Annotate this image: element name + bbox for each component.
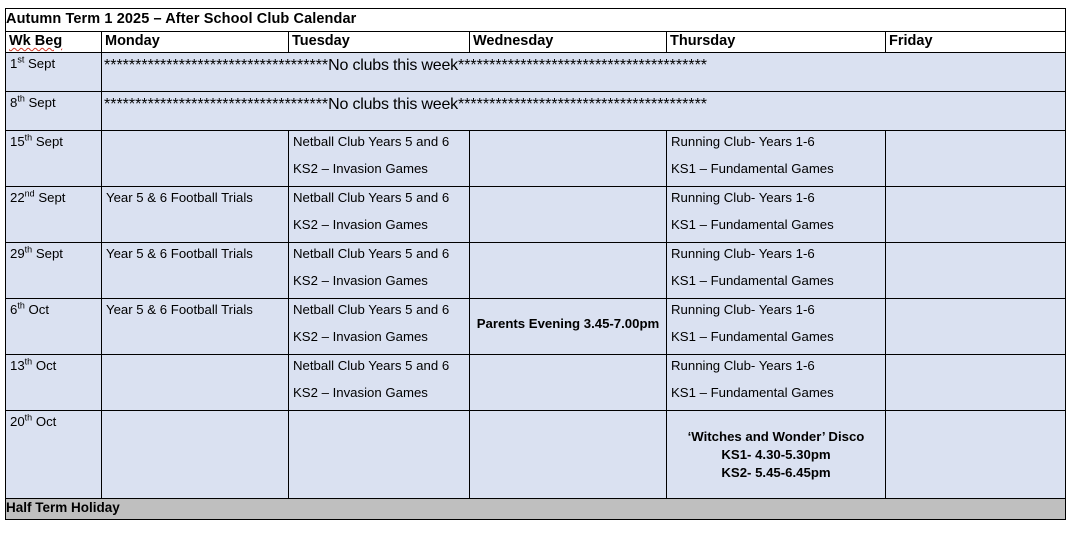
thursday-cell: ‘Witches and Wonder’ Disco KS1- 4.30-5.3… <box>667 411 886 499</box>
table-row: 15th Sept Netball Club Years 5 and 6 KS2… <box>6 131 1066 187</box>
tuesday-activity-primary: Netball Club Years 5 and 6 <box>293 190 465 206</box>
week-beginning-cell: 22nd Sept <box>6 187 102 243</box>
tuesday-activity-secondary: KS2 – Invasion Games <box>293 329 465 345</box>
wednesday-cell <box>470 131 667 187</box>
tuesday-cell: Netball Club Years 5 and 6 KS2 – Invasio… <box>289 243 470 299</box>
week-date-ordinal: th <box>17 301 24 311</box>
week-date-number: 20 <box>10 414 25 429</box>
week-date-ordinal: th <box>25 413 32 423</box>
monday-cell: Year 5 & 6 Football Trials <box>102 187 289 243</box>
week-date-month: Oct <box>36 358 57 373</box>
disco-ks1-time: KS1- 4.30-5.30pm <box>721 446 830 464</box>
week-date-ordinal: st <box>17 55 24 65</box>
wednesday-cell <box>470 355 667 411</box>
week-date-month: Sept <box>29 95 56 110</box>
friday-cell <box>886 355 1066 411</box>
banner-text: No clubs this week <box>328 57 458 74</box>
table-row: 20th Oct ‘Witches and Wonder’ Disco KS1-… <box>6 411 1066 499</box>
table-row: 22nd Sept Year 5 & 6 Football Trials Net… <box>6 187 1066 243</box>
no-clubs-banner-cell: ************************************No c… <box>102 92 1066 131</box>
week-date-ordinal: th <box>17 94 24 104</box>
thursday-activity-primary: Running Club- Years 1-6 <box>671 134 881 150</box>
half-term-holiday-row: Half Term Holiday <box>6 499 1066 520</box>
wednesday-activity <box>470 131 666 180</box>
calendar-title-row: Autumn Term 1 2025 – After School Club C… <box>6 9 1066 32</box>
thursday-activity-secondary: KS1 – Fundamental Games <box>671 385 881 401</box>
monday-cell <box>102 131 289 187</box>
week-date-ordinal: th <box>25 245 32 255</box>
table-row: 13th Oct Netball Club Years 5 and 6 KS2 … <box>6 355 1066 411</box>
week-beginning-cell: 6th Oct <box>6 299 102 355</box>
column-header-friday-label: Friday <box>886 32 1065 51</box>
friday-cell <box>886 299 1066 355</box>
week-date-number: 29 <box>10 246 25 261</box>
tuesday-activity-secondary: KS2 – Invasion Games <box>293 161 465 177</box>
column-header-friday: Friday <box>886 32 1066 53</box>
thursday-cell: Running Club- Years 1-6 KS1 – Fundamenta… <box>667 355 886 411</box>
week-date-ordinal: th <box>25 133 32 143</box>
thursday-activity-primary: Running Club- Years 1-6 <box>671 358 881 374</box>
tuesday-activity-primary: Netball Club Years 5 and 6 <box>293 302 465 318</box>
week-date-month: Sept <box>38 190 65 205</box>
thursday-cell: Running Club- Years 1-6 KS1 – Fundamenta… <box>667 299 886 355</box>
week-date-month: Sept <box>28 56 55 71</box>
half-term-holiday-label: Half Term Holiday <box>6 499 1065 517</box>
friday-cell <box>886 187 1066 243</box>
thursday-activity-primary: Running Club- Years 1-6 <box>671 302 881 318</box>
tuesday-activity-secondary: KS2 – Invasion Games <box>293 217 465 233</box>
monday-activity-primary: Year 5 & 6 Football Trials <box>106 246 284 262</box>
column-header-monday: Monday <box>102 32 289 53</box>
week-date-number: 22 <box>10 190 25 205</box>
week-beginning-cell: 8th Sept <box>6 92 102 131</box>
friday-cell <box>886 131 1066 187</box>
week-date-month: Oct <box>36 414 57 429</box>
thursday-activity-secondary: KS1 – Fundamental Games <box>671 329 881 345</box>
friday-activity <box>886 243 1065 292</box>
friday-activity <box>886 187 1065 236</box>
table-row: 29th Sept Year 5 & 6 Football Trials Net… <box>6 243 1066 299</box>
friday-activity <box>886 411 1065 498</box>
tuesday-cell: Netball Club Years 5 and 6 KS2 – Invasio… <box>289 187 470 243</box>
column-header-wk-beg-label: Wk Beg <box>9 33 62 49</box>
calendar-page: Autumn Term 1 2025 – After School Club C… <box>0 0 1079 537</box>
disco-title: ‘Witches and Wonder’ Disco <box>688 428 865 446</box>
week-beginning-cell: 13th Oct <box>6 355 102 411</box>
monday-cell <box>102 355 289 411</box>
thursday-activity-secondary: KS1 – Fundamental Games <box>671 161 881 177</box>
table-row: 6th Oct Year 5 & 6 Football Trials Netba… <box>6 299 1066 355</box>
tuesday-cell: Netball Club Years 5 and 6 KS2 – Invasio… <box>289 131 470 187</box>
friday-cell <box>886 411 1066 499</box>
monday-cell <box>102 411 289 499</box>
week-beginning-cell: 20th Oct <box>6 411 102 499</box>
tuesday-activity-primary: Netball Club Years 5 and 6 <box>293 246 465 262</box>
friday-activity <box>886 355 1065 404</box>
column-header-wednesday-label: Wednesday <box>470 32 666 51</box>
calendar-header-row: Wk Beg Monday Tuesday Wednesday Thursday… <box>6 32 1066 53</box>
week-date-month: Sept <box>36 246 63 261</box>
week-date-number: 13 <box>10 358 25 373</box>
week-date-ordinal: th <box>25 357 32 367</box>
table-row: 1st Sept *******************************… <box>6 53 1066 92</box>
wednesday-cell <box>470 411 667 499</box>
tuesday-cell: Netball Club Years 5 and 6 KS2 – Invasio… <box>289 355 470 411</box>
thursday-cell: Running Club- Years 1-6 KS1 – Fundamenta… <box>667 243 886 299</box>
thursday-activity-primary: Running Club- Years 1-6 <box>671 246 881 262</box>
friday-activity <box>886 299 1065 348</box>
monday-activity-primary: Year 5 & 6 Football Trials <box>106 302 284 318</box>
week-date-month: Oct <box>29 302 50 317</box>
column-header-wednesday: Wednesday <box>470 32 667 53</box>
thursday-cell: Running Club- Years 1-6 KS1 – Fundamenta… <box>667 187 886 243</box>
monday-cell: Year 5 & 6 Football Trials <box>102 299 289 355</box>
wednesday-cell <box>470 243 667 299</box>
week-beginning-cell: 29th Sept <box>6 243 102 299</box>
banner-stars-right: **************************************** <box>458 96 707 113</box>
table-row: 8th Sept *******************************… <box>6 92 1066 131</box>
column-header-wk-beg: Wk Beg <box>6 32 102 53</box>
tuesday-activity-primary: Netball Club Years 5 and 6 <box>293 134 465 150</box>
week-beginning-cell: 15th Sept <box>6 131 102 187</box>
no-clubs-banner-cell: ************************************No c… <box>102 53 1066 92</box>
week-date-month: Sept <box>36 134 63 149</box>
thursday-cell: Running Club- Years 1-6 KS1 – Fundamenta… <box>667 131 886 187</box>
thursday-activity-secondary: KS1 – Fundamental Games <box>671 217 881 233</box>
after-school-club-calendar-table: Autumn Term 1 2025 – After School Club C… <box>5 8 1066 520</box>
column-header-thursday-label: Thursday <box>667 32 885 51</box>
tuesday-activity <box>289 411 469 498</box>
wednesday-activity <box>470 187 666 236</box>
week-date-number: 15 <box>10 134 25 149</box>
tuesday-activity-secondary: KS2 – Invasion Games <box>293 385 465 401</box>
tuesday-cell <box>289 411 470 499</box>
tuesday-activity-secondary: KS2 – Invasion Games <box>293 273 465 289</box>
tuesday-cell: Netball Club Years 5 and 6 KS2 – Invasio… <box>289 299 470 355</box>
monday-activity <box>102 411 288 498</box>
friday-activity <box>886 131 1065 180</box>
disco-ks2-time: KS2- 5.45-6.45pm <box>721 464 830 482</box>
monday-cell: Year 5 & 6 Football Trials <box>102 243 289 299</box>
column-header-tuesday-label: Tuesday <box>289 32 469 51</box>
wednesday-activity <box>470 411 666 498</box>
wednesday-activity <box>470 243 666 292</box>
week-beginning-cell: 1st Sept <box>6 53 102 92</box>
thursday-activity-secondary: KS1 – Fundamental Games <box>671 273 881 289</box>
calendar-title-cell: Autumn Term 1 2025 – After School Club C… <box>6 9 1066 32</box>
half-term-holiday-cell: Half Term Holiday <box>6 499 1066 520</box>
parents-evening-note: Parents Evening 3.45-7.00pm <box>470 299 666 348</box>
thursday-activity-primary: Running Club- Years 1-6 <box>671 190 881 206</box>
column-header-monday-label: Monday <box>102 32 288 51</box>
banner-text: No clubs this week <box>328 96 458 113</box>
page-title: Autumn Term 1 2025 – After School Club C… <box>6 11 356 27</box>
friday-cell <box>886 243 1066 299</box>
wednesday-cell <box>470 187 667 243</box>
monday-activity-primary: Year 5 & 6 Football Trials <box>106 190 284 206</box>
column-header-tuesday: Tuesday <box>289 32 470 53</box>
banner-stars-left: ************************************ <box>104 96 328 113</box>
wednesday-activity <box>470 355 666 404</box>
week-date-ordinal: nd <box>25 189 35 199</box>
column-header-thursday: Thursday <box>667 32 886 53</box>
wednesday-cell: Parents Evening 3.45-7.00pm <box>470 299 667 355</box>
tuesday-activity-primary: Netball Club Years 5 and 6 <box>293 358 465 374</box>
banner-stars-left: ************************************ <box>104 57 328 74</box>
banner-stars-right: **************************************** <box>458 57 707 74</box>
